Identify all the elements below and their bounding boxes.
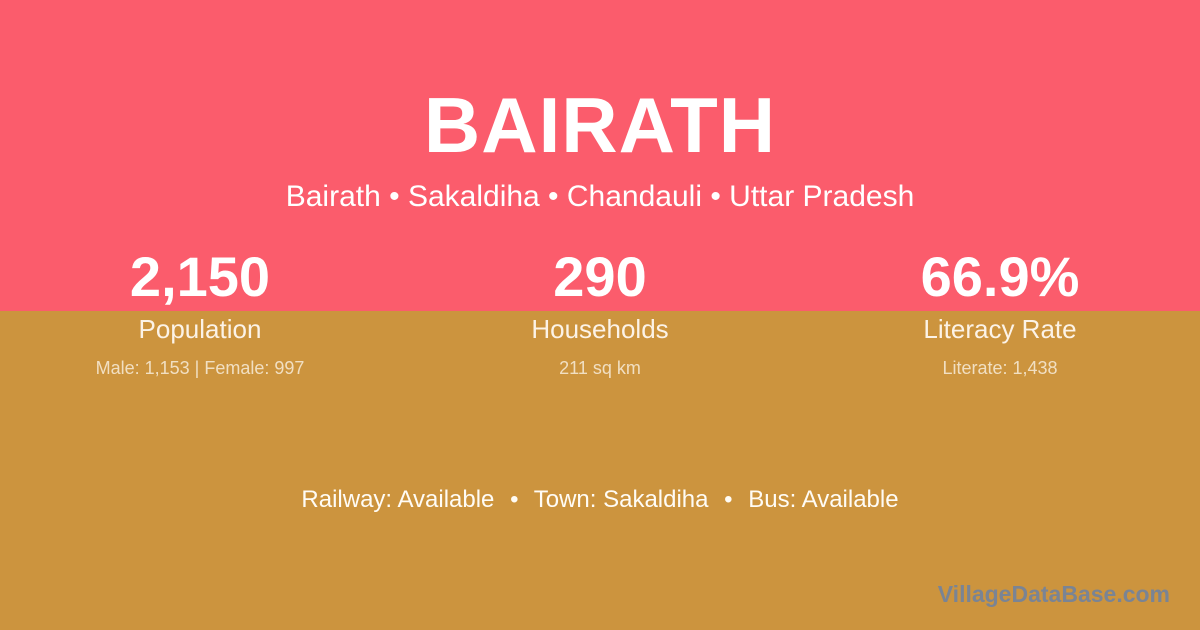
stat-value: 2,150: [0, 243, 400, 311]
stat-sub-detail: Literate: 1,438: [800, 355, 1200, 381]
stat-sub-detail: Male: 1,153 | Female: 997: [0, 355, 400, 381]
amenity-bus: Bus: Available: [748, 486, 898, 513]
bullet-separator-icon: •: [501, 484, 527, 516]
breadcrumb: Bairath • Sakaldiha • Chandauli • Uttar …: [0, 170, 1200, 216]
stat-value: 66.9%: [800, 243, 1200, 311]
stat-label: Literacy Rate: [800, 312, 1200, 346]
card-header: BAIRATH Bairath • Sakaldiha • Chandauli …: [0, 0, 1200, 216]
amenity-railway: Railway: Available: [301, 486, 494, 513]
stats-row: 2,150 Population Male: 1,153 | Female: 9…: [0, 243, 1200, 381]
stat-population: 2,150 Population Male: 1,153 | Female: 9…: [0, 243, 400, 381]
amenities-line: Railway: Available • Town: Sakaldiha • B…: [0, 484, 1200, 516]
bullet-separator-icon: •: [715, 484, 741, 516]
stat-value: 290: [400, 243, 800, 311]
village-info-card: BAIRATH Bairath • Sakaldiha • Chandauli …: [0, 0, 1200, 630]
stat-literacy-rate: 66.9% Literacy Rate Literate: 1,438: [800, 243, 1200, 381]
stat-label: Population: [0, 312, 400, 346]
page-title: BAIRATH: [0, 0, 1200, 170]
stat-households: 290 Households 211 sq km: [400, 243, 800, 381]
site-watermark: VillageDataBase.com: [938, 580, 1170, 608]
amenity-nearest-town: Town: Sakaldiha: [534, 486, 709, 513]
stat-sub-detail: 211 sq km: [400, 355, 800, 381]
stat-label: Households: [400, 312, 800, 346]
